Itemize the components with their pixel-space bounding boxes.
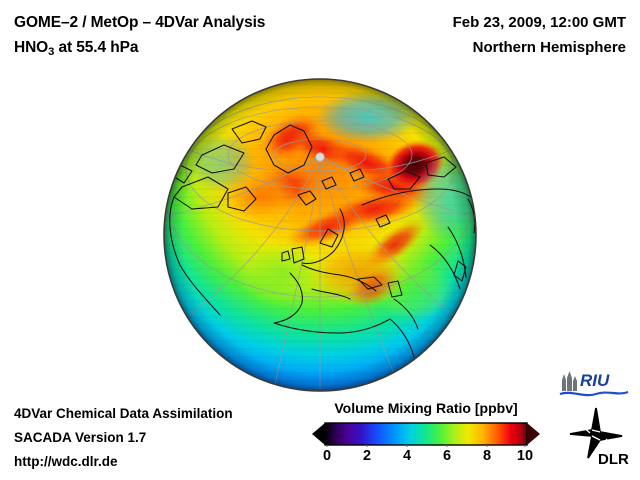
species-subtitle: HNO3 at 55.4 hPa <box>14 35 265 65</box>
limb-shading <box>164 79 476 391</box>
visualization-page: GOME–2 / MetOp – 4DVar Analysis HNO3 at … <box>0 0 640 480</box>
colorbar-tick-label: 10 <box>517 448 533 464</box>
footer-line-1: 4DVar Chemical Data Assimilation <box>14 402 233 426</box>
colorbar-tick-label: 4 <box>403 448 411 464</box>
region-label: Northern Hemisphere <box>453 35 626 60</box>
north-pole-marker <box>316 153 324 161</box>
globe-svg <box>162 77 478 393</box>
riu-wave-icon <box>560 392 628 395</box>
colorbar-tick-label: 0 <box>323 448 331 464</box>
colorbar-arrow-high <box>527 423 540 445</box>
footer-credits: 4DVar Chemical Data Assimilation SACADA … <box>14 402 233 474</box>
species-name: HNO <box>14 39 48 56</box>
riu-wordmark: RIU <box>580 371 610 390</box>
dlr-wordmark: DLR <box>598 451 629 468</box>
colorbar-tick-label: 6 <box>443 448 451 464</box>
header-right: Feb 23, 2009, 12:00 GMT Northern Hemisph… <box>453 10 626 60</box>
colorbar-tick-label: 8 <box>483 448 491 464</box>
species-level: at 55.4 hPa <box>54 39 138 56</box>
timestamp-label: Feb 23, 2009, 12:00 GMT <box>453 10 626 35</box>
colorbar-tick-labels: 0246810 <box>312 448 540 468</box>
colorbar-ramp <box>325 423 527 445</box>
riu-cathedral-icon <box>562 371 577 391</box>
footer-url[interactable]: http://wdc.dlr.de <box>14 450 233 474</box>
globe-map <box>162 77 478 393</box>
riu-logo: RIU <box>558 369 630 401</box>
dlr-logo: DLR <box>566 406 630 468</box>
colorbar-swatch <box>312 421 540 447</box>
header-left: GOME–2 / MetOp – 4DVar Analysis HNO3 at … <box>14 10 265 65</box>
colorbar-arrow-low <box>312 423 325 445</box>
colorbar-tick-label: 2 <box>363 448 371 464</box>
footer-line-2: SACADA Version 1.7 <box>14 426 233 450</box>
colorbar: Volume Mixing Ratio [ppbv] 0246810 <box>312 400 540 468</box>
page-title: GOME–2 / MetOp – 4DVar Analysis <box>14 10 265 35</box>
colorbar-title: Volume Mixing Ratio [ppbv] <box>312 400 540 416</box>
